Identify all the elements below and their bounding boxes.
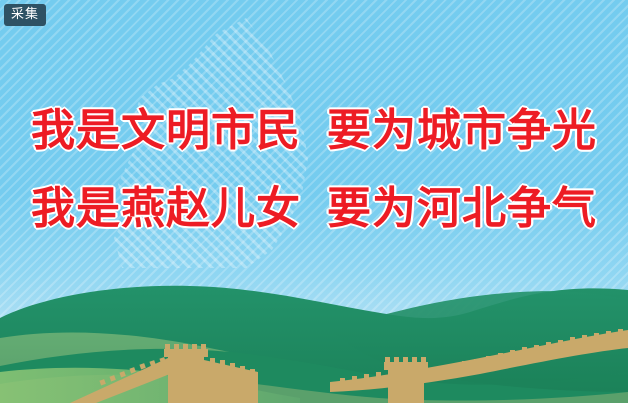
banner-image: 我是文明市民要为城市争光 我是燕赵儿女要为河北争气 采集 (0, 0, 628, 403)
sky-background (0, 0, 628, 403)
capture-button[interactable]: 采集 (4, 4, 46, 26)
